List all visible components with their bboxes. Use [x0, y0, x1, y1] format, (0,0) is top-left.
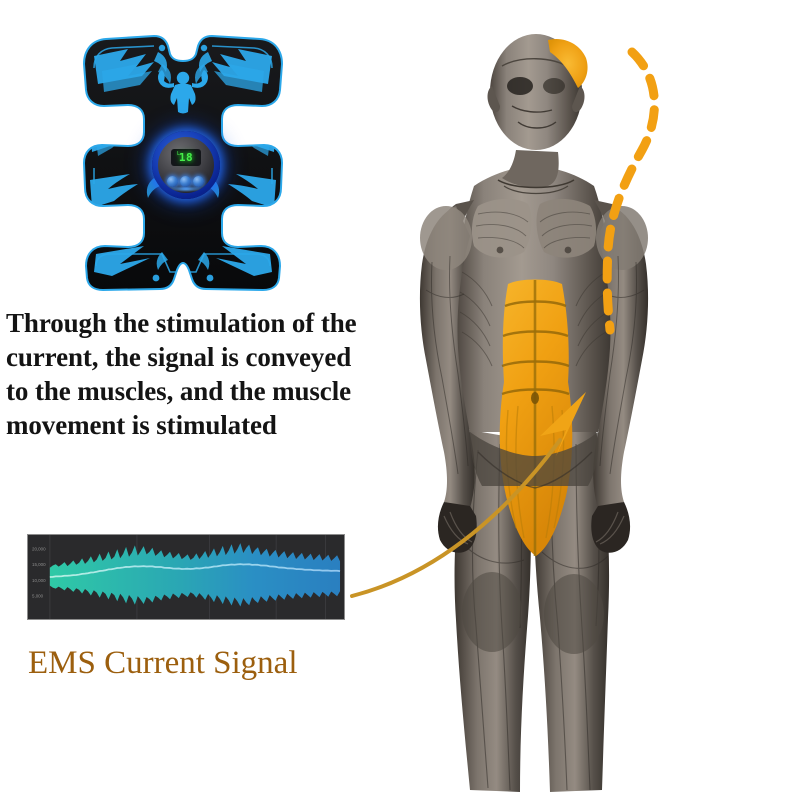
axis-tick-label: 20,000 [32, 547, 46, 552]
ems-signal-waveform-chart: 20,00015,00010,0005,000 [27, 534, 345, 620]
description-line-2: current, the signal is conveyed [6, 340, 406, 374]
led-intensity-value: 18 [179, 152, 193, 163]
description-line-1: Through the stimulation of the [6, 306, 406, 340]
power-button[interactable] [180, 176, 191, 187]
description-line-3: to the muscles, and the muscle [6, 374, 406, 408]
control-unit-face: L 18 [158, 137, 214, 193]
device-control-unit[interactable]: L 18 [152, 131, 220, 199]
head-and-neck [488, 34, 588, 194]
male-muscular-anatomy-figure [352, 0, 800, 800]
description-text: Through the stimulation of the current, … [6, 306, 406, 442]
axis-tick-label: 10,000 [32, 578, 46, 583]
axis-tick-label: 5,000 [32, 594, 44, 599]
led-mode-indicator: L [177, 151, 180, 157]
axis-tick-label: 15,000 [32, 562, 46, 567]
plus-button[interactable] [193, 176, 204, 187]
infographic-page: L 18 Through the stimulation of the curr… [0, 0, 800, 800]
chart-caption: EMS Current Signal [28, 645, 298, 681]
led-display-screen: L 18 [171, 149, 201, 166]
description-line-4: movement is stimulated [6, 408, 406, 442]
minus-button[interactable] [167, 176, 178, 187]
